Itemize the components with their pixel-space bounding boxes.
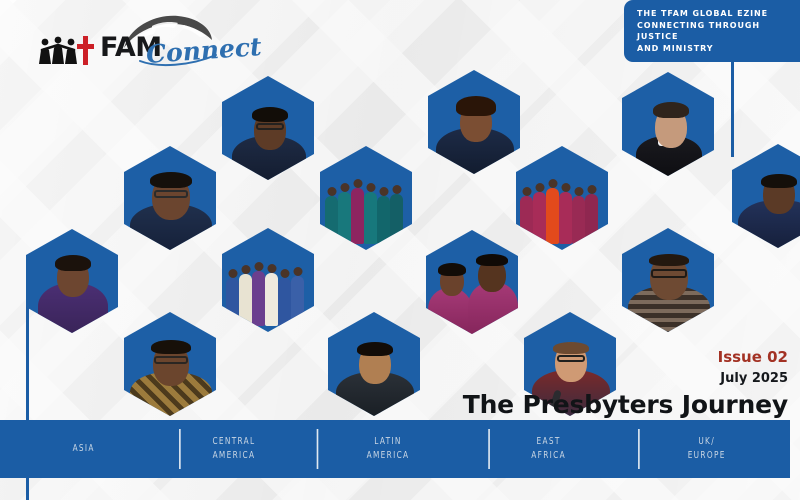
hex-portrait-9[interactable] — [732, 144, 800, 248]
issue-date: July 2025 — [720, 371, 788, 386]
region-divider — [638, 429, 640, 469]
region-tab-latin-america[interactable]: LATIN AMERICA — [317, 420, 460, 478]
region-divider — [179, 429, 181, 469]
region-tab-asia[interactable]: ASIA — [15, 420, 152, 478]
region-label-line2: AMERICA — [367, 449, 410, 463]
issue-number: Issue 02 — [718, 348, 788, 366]
choir-group-teal — [323, 182, 409, 244]
hex-portrait-11[interactable] — [622, 228, 714, 332]
hex-portrait-1[interactable] — [26, 229, 118, 333]
region-label-line2: AMERICA — [213, 449, 256, 463]
bishops-group-magenta — [519, 182, 605, 244]
region-label-line1: LATIN — [375, 435, 402, 449]
hex-group-7[interactable] — [516, 146, 608, 250]
region-label-line1: CENTRAL — [213, 435, 256, 449]
hex-portrait-8[interactable] — [622, 72, 714, 176]
region-divider — [489, 429, 491, 469]
choir-group-blue — [225, 264, 311, 326]
region-tab-east-africa[interactable]: EAST AFRICA — [489, 420, 610, 478]
region-label-line1: UK/ — [698, 435, 715, 449]
hex-portrait-10[interactable] — [426, 230, 518, 334]
region-label-line2: AFRICA — [532, 449, 567, 463]
hex-portrait-12[interactable] — [124, 312, 216, 416]
region-tab-uk-europe[interactable]: UK/ EUROPE — [638, 420, 775, 478]
region-nav-bar: ASIA CENTRAL AMERICA LATIN AMERICA EAST … — [0, 420, 790, 478]
magazine-cover: FAM Connect THE TFAM GLOBAL EZINE CONNEC… — [0, 0, 800, 500]
hex-group-5[interactable] — [222, 228, 314, 332]
region-tab-central-america[interactable]: CENTRAL AMERICA — [179, 420, 289, 478]
hex-portrait-3[interactable] — [222, 76, 314, 180]
hex-portrait-2[interactable] — [124, 146, 216, 250]
region-divider — [317, 429, 319, 469]
hex-portrait-6[interactable] — [428, 70, 520, 174]
hex-group-4[interactable] — [320, 146, 412, 250]
hex-portrait-13[interactable] — [328, 312, 420, 416]
region-label-line1: ASIA — [73, 442, 95, 456]
region-label-line2: EUROPE — [687, 449, 725, 463]
region-label-line1: EAST — [537, 435, 561, 449]
cover-title: The Presbyters Journey — [463, 390, 788, 419]
